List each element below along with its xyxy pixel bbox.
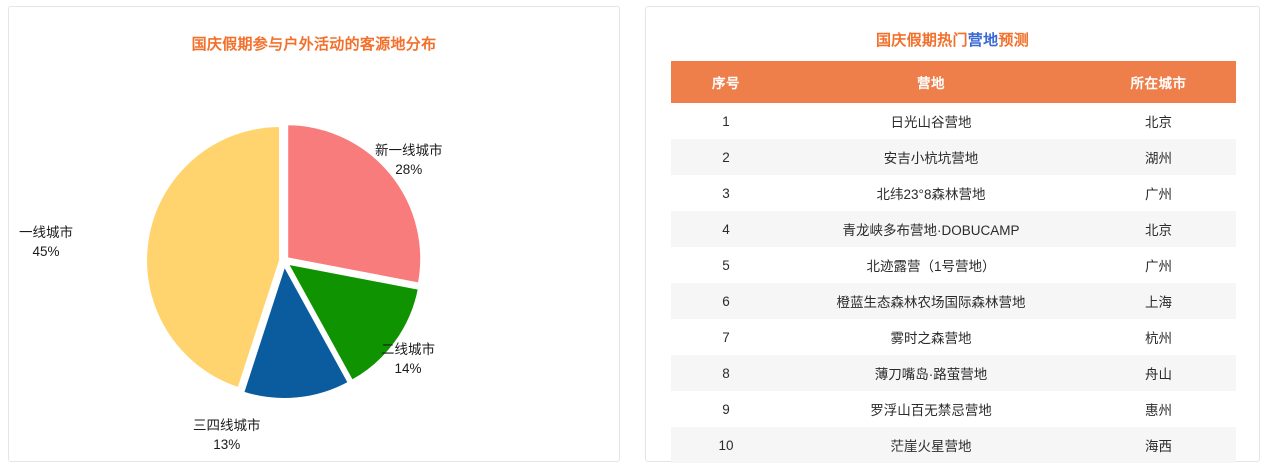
pie-label-tier1: 一线城市 45% <box>19 223 73 261</box>
dashboard-root: 国庆假期参与户外活动的客源地分布 新一线城市 28% 二线城市 14% 三四线城… <box>0 0 1268 470</box>
cell-camp: 日光山谷营地 <box>781 103 1081 139</box>
pie-label-tier2: 二线城市 14% <box>381 340 435 378</box>
cell-city: 舟山 <box>1081 355 1236 391</box>
cell-index: 4 <box>671 211 781 247</box>
cell-index: 10 <box>671 427 781 463</box>
table-header-row: 序号 营地 所在城市 <box>671 61 1236 103</box>
pie-chart-svg <box>9 63 621 459</box>
table-row[interactable]: 4青龙峡多布营地·DOBUCAMP北京 <box>671 211 1236 247</box>
pie-label-new-tier1-value: 28% <box>375 160 443 179</box>
pie-label-tier1-name: 一线城市 <box>19 225 73 240</box>
pie-panel-title: 国庆假期参与户外活动的客源地分布 <box>9 33 619 54</box>
cell-camp: 橙蓝生态森林农场国际森林营地 <box>781 283 1081 319</box>
cell-index: 2 <box>671 139 781 175</box>
cell-camp: 雾时之森营地 <box>781 319 1081 355</box>
cell-camp: 薄刀嘴岛·路萤营地 <box>781 355 1081 391</box>
cell-index: 3 <box>671 175 781 211</box>
column-header-city: 所在城市 <box>1081 61 1236 103</box>
cell-index: 7 <box>671 319 781 355</box>
table-row[interactable]: 7雾时之森营地杭州 <box>671 319 1236 355</box>
cell-city: 广州 <box>1081 247 1236 283</box>
column-header-index: 序号 <box>671 61 781 103</box>
pie-label-new-tier1: 新一线城市 28% <box>375 141 443 179</box>
table-header: 序号 营地 所在城市 <box>671 61 1236 103</box>
cell-camp: 茫崖火星营地 <box>781 427 1081 463</box>
cell-city: 上海 <box>1081 283 1236 319</box>
table-row[interactable]: 3北纬23°8森林营地广州 <box>671 175 1236 211</box>
cell-index: 1 <box>671 103 781 139</box>
cell-city: 北京 <box>1081 211 1236 247</box>
pie-label-tier2-value: 14% <box>381 359 435 378</box>
table-title-segment-2: 营地 <box>968 32 999 49</box>
table-row[interactable]: 2安吉小杭坑营地湖州 <box>671 139 1236 175</box>
cell-camp: 青龙峡多布营地·DOBUCAMP <box>781 211 1081 247</box>
cell-city: 惠州 <box>1081 391 1236 427</box>
pie-label-tier34-value: 13% <box>193 435 261 454</box>
cell-index: 5 <box>671 247 781 283</box>
cell-camp: 北迹露营（1号营地） <box>781 247 1081 283</box>
cell-city: 北京 <box>1081 103 1236 139</box>
table-row[interactable]: 8薄刀嘴岛·路萤营地舟山 <box>671 355 1236 391</box>
pie-label-tier1-value: 45% <box>19 242 73 261</box>
table-panel-title: 国庆假期热门营地预测 <box>646 29 1259 50</box>
cell-camp: 北纬23°8森林营地 <box>781 175 1081 211</box>
cell-city: 湖州 <box>1081 139 1236 175</box>
pie-label-tier34-name: 三四线城市 <box>193 418 261 433</box>
pie-label-new-tier1-name: 新一线城市 <box>375 143 443 158</box>
pie-label-tier2-name: 二线城市 <box>381 342 435 357</box>
camp-table-panel: 国庆假期热门营地预测 序号 营地 所在城市 1日光山谷营地北京2安吉小杭坑营地湖… <box>645 6 1260 462</box>
table-body: 1日光山谷营地北京2安吉小杭坑营地湖州3北纬23°8森林营地广州4青龙峡多布营地… <box>671 103 1236 463</box>
table-row[interactable]: 5北迹露营（1号营地）广州 <box>671 247 1236 283</box>
cell-index: 9 <box>671 391 781 427</box>
cell-index: 8 <box>671 355 781 391</box>
column-header-camp: 营地 <box>781 61 1081 103</box>
cell-city: 杭州 <box>1081 319 1236 355</box>
cell-camp: 安吉小杭坑营地 <box>781 139 1081 175</box>
table-row[interactable]: 9罗浮山百无禁忌营地惠州 <box>671 391 1236 427</box>
pie-label-tier34: 三四线城市 13% <box>193 416 261 454</box>
table-row[interactable]: 6橙蓝生态森林农场国际森林营地上海 <box>671 283 1236 319</box>
camp-forecast-table: 序号 营地 所在城市 1日光山谷营地北京2安吉小杭坑营地湖州3北纬23°8森林营… <box>671 61 1236 463</box>
table-title-segment-1: 国庆假期热门 <box>876 32 968 49</box>
pie-chart-panel: 国庆假期参与户外活动的客源地分布 新一线城市 28% 二线城市 14% 三四线城… <box>8 6 620 462</box>
cell-city: 广州 <box>1081 175 1236 211</box>
cell-index: 6 <box>671 283 781 319</box>
cell-camp: 罗浮山百无禁忌营地 <box>781 391 1081 427</box>
pie-chart-area: 新一线城市 28% 二线城市 14% 三四线城市 13% 一线城市 45% <box>9 63 621 459</box>
table-row[interactable]: 10茫崖火星营地海西 <box>671 427 1236 463</box>
table-row[interactable]: 1日光山谷营地北京 <box>671 103 1236 139</box>
table-title-segment-3: 预测 <box>998 32 1029 49</box>
cell-city: 海西 <box>1081 427 1236 463</box>
